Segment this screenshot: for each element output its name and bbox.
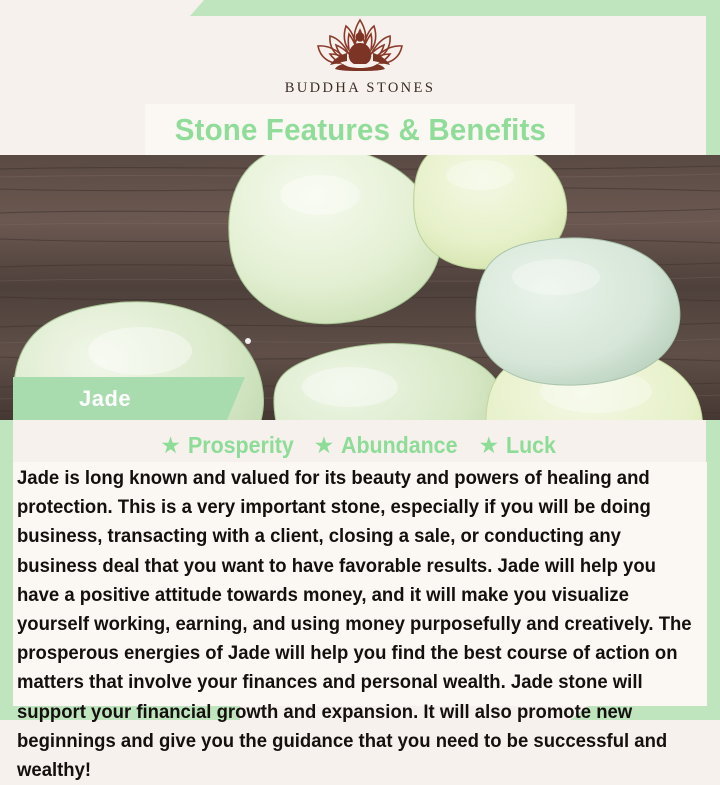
photo-caption-label: Jade	[79, 386, 131, 412]
brand-name: BUDDHA STONES	[285, 80, 436, 97]
description-text: Jade is long known and valued for its be…	[17, 464, 702, 785]
title-banner: Stone Features & Benefits	[145, 104, 575, 156]
keyword-list: ★ Prosperity ★ Abundance ★ Luck	[0, 428, 720, 462]
star-icon: ★	[160, 434, 181, 457]
brand-header: BUDDHA STONES	[0, 0, 720, 110]
keyword-label: Luck	[506, 432, 556, 459]
keyword-label: Prosperity	[188, 432, 294, 459]
keyword-item-prosperity: ★ Prosperity	[160, 432, 301, 459]
keyword-label: Abundance	[341, 432, 457, 459]
lotus-meditation-icon	[285, 14, 435, 78]
photo-caption-jade: Jade	[13, 377, 245, 420]
star-icon: ★	[314, 434, 335, 457]
description-panel: Jade is long known and valued for its be…	[13, 462, 707, 706]
page-title: Stone Features & Benefits	[174, 112, 545, 148]
keyword-item-luck: ★ Luck	[478, 432, 559, 459]
decor-left-strip	[0, 420, 13, 720]
infographic-page: BUDDHA STONES Stone Features & Benefits	[0, 0, 720, 720]
keyword-item-abundance: ★ Abundance	[314, 432, 467, 459]
star-icon: ★	[478, 434, 499, 457]
